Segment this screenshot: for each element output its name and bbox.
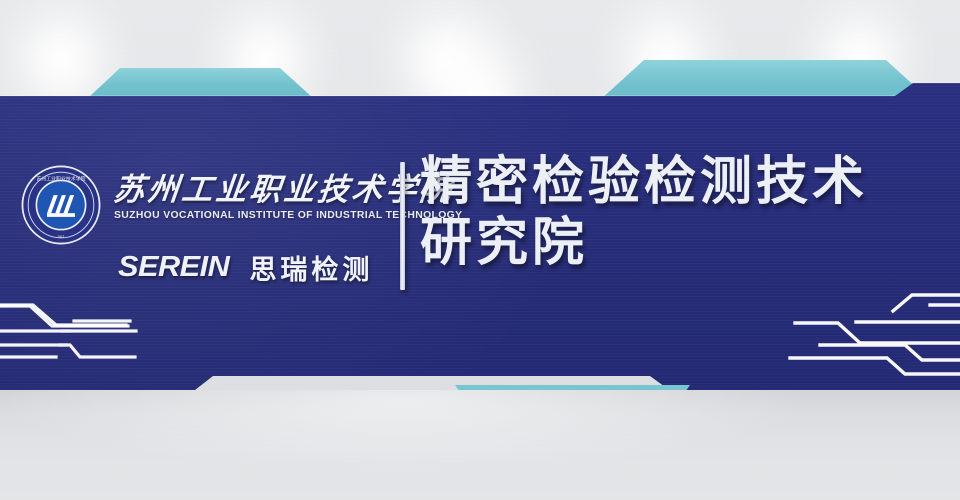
brand-lockup: SEREIN 思瑞检测 [118,248,373,287]
title-divider-rule [400,162,405,290]
institution-logo-block: 苏州工业职业技术学院 SIIT 苏州工业职业技术学院 SUZHOU VOCATI… [18,160,390,290]
panel-top-highlight-right [913,82,960,84]
floor-surface [0,390,960,500]
title-line-2: 研究院 [420,213,950,274]
title-line-1: 精密检验检测技术 [420,153,868,211]
teal-trapezoid-top-left [88,68,313,98]
svg-text:SIIT: SIIT [58,235,66,239]
brand-chinese-name: 思瑞检测 [249,248,373,287]
brand-latin-wordmark: SEREIN [118,251,229,284]
teal-trapezoid-top-right [600,60,930,100]
signage-scene: 苏州工业职业技术学院 SIIT 苏州工业职业技术学院 SUZHOU VOCATI… [0,0,960,500]
page-title: 精密检验检测技术 研究院 [420,152,950,274]
panel-top-highlight-left [0,95,895,97]
university-crest-icon: 苏州工业职业技术学院 SIIT [20,164,102,246]
university-name-en: SUZHOU VOCATIONAL INSTITUTE OF INDUSTRIA… [114,210,462,221]
